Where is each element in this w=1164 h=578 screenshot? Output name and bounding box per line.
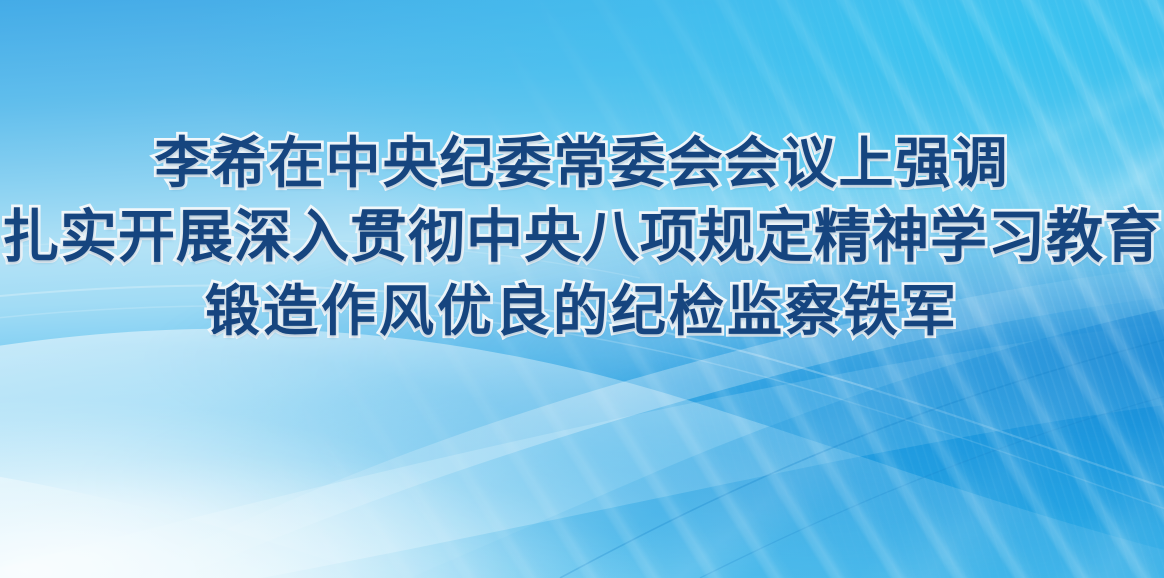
headline-line-1: 李希在中央纪委常委会会议上强调 bbox=[0, 132, 1164, 196]
news-banner: 李希在中央纪委常委会会议上强调 扎实开展深入贯彻中央八项规定精神学习教育 锻造作… bbox=[0, 0, 1164, 578]
headline-line-3: 锻造作风优良的纪检监察铁军 bbox=[0, 280, 1164, 344]
headline-line-2: 扎实开展深入贯彻中央八项规定精神学习教育 bbox=[0, 204, 1164, 270]
headline-block: 李希在中央纪委常委会会议上强调 扎实开展深入贯彻中央八项规定精神学习教育 锻造作… bbox=[0, 132, 1164, 344]
